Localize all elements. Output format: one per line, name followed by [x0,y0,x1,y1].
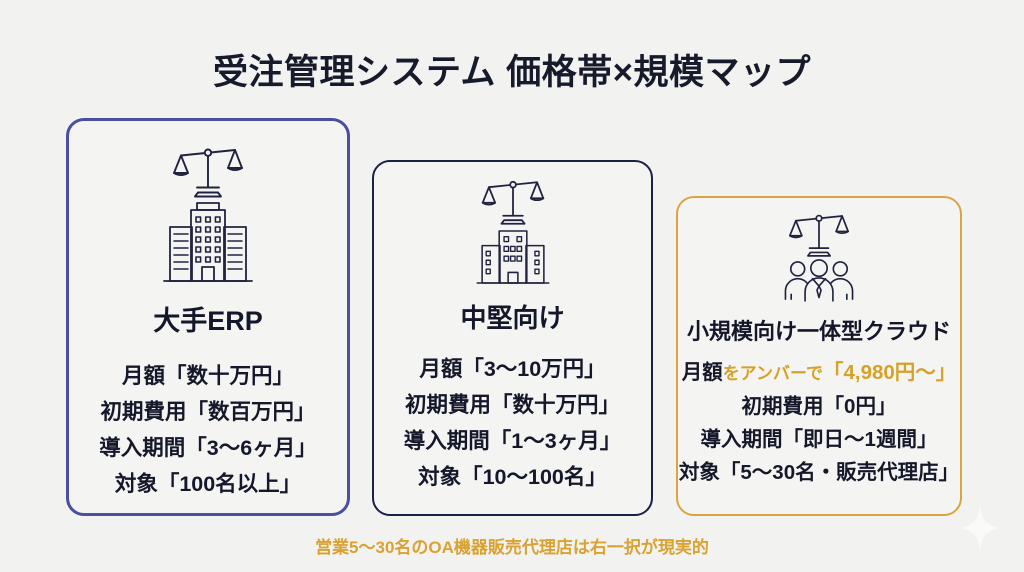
building-icon [160,199,256,287]
people-icon [783,258,855,306]
card-title: 小規模向け一体型クラウド [687,314,951,346]
card-icon-group [783,210,855,306]
card-small-cloud[interactable]: 小規模向け一体型クラウド 月額をアンバーで「4,980円〜」 初期費用「0円」 … [676,196,962,516]
slide-canvas: 受注管理システム 価格帯×規模マップ [0,0,1024,572]
card-line: 月額「3〜10万円」 [419,351,605,387]
card-line: 初期費用「0円」 [742,390,897,423]
card-line: 導入期間「3〜6ヶ月」 [99,430,316,466]
card-line: 初期費用「数十万円」 [405,387,620,423]
card-title: 大手ERP [153,299,263,338]
sparkle-icon [960,506,1000,550]
card-line: 月額「数十万円」 [122,358,294,394]
scale-icon [787,210,851,258]
card-title: 中堅向け [460,298,564,335]
card-line-list: 月額をアンバーで「4,980円〜」 初期費用「0円」 導入期間「即日〜1週間」 … [678,356,960,489]
building-icon [474,226,552,288]
card-line: 初期費用「数百万円」 [100,394,315,430]
card-large-erp[interactable]: 大手ERP 月額「数十万円」 初期費用「数百万円」 導入期間「3〜6ヶ月」 対象… [66,118,350,516]
price-value: 「4,980円〜」 [823,361,956,384]
card-line-list: 月額「数十万円」 初期費用「数百万円」 導入期間「3〜6ヶ月」 対象「100名以… [69,358,347,502]
page-title: 受注管理システム 価格帯×規模マップ [0,44,1024,95]
card-price-line: 月額をアンバーで「4,980円〜」 [682,356,957,390]
scale-icon [171,143,245,199]
card-line: 対象「5〜30名・販売代理店」 [679,456,959,489]
card-line-list: 月額「3〜10万円」 初期費用「数十万円」 導入期間「1〜3ヶ月」 対象「10〜… [374,351,651,495]
card-line: 導入期間「即日〜1週間」 [701,423,938,456]
card-line: 対象「100名以上」 [115,466,301,502]
scale-icon [480,176,546,226]
card-icon-group [474,176,552,288]
footer-caption: 営業5〜30名のOA機器販売代理店は右一択が現実的 [0,533,1024,558]
card-line: 導入期間「1〜3ヶ月」 [404,423,621,459]
card-icon-group [160,143,256,287]
price-label-amber: をアンバーで [723,364,823,383]
card-line: 対象「10〜100名」 [418,459,607,495]
price-label-dark: 月額 [682,361,723,384]
card-mid-market[interactable]: 中堅向け 月額「3〜10万円」 初期費用「数十万円」 導入期間「1〜3ヶ月」 対… [372,160,653,516]
